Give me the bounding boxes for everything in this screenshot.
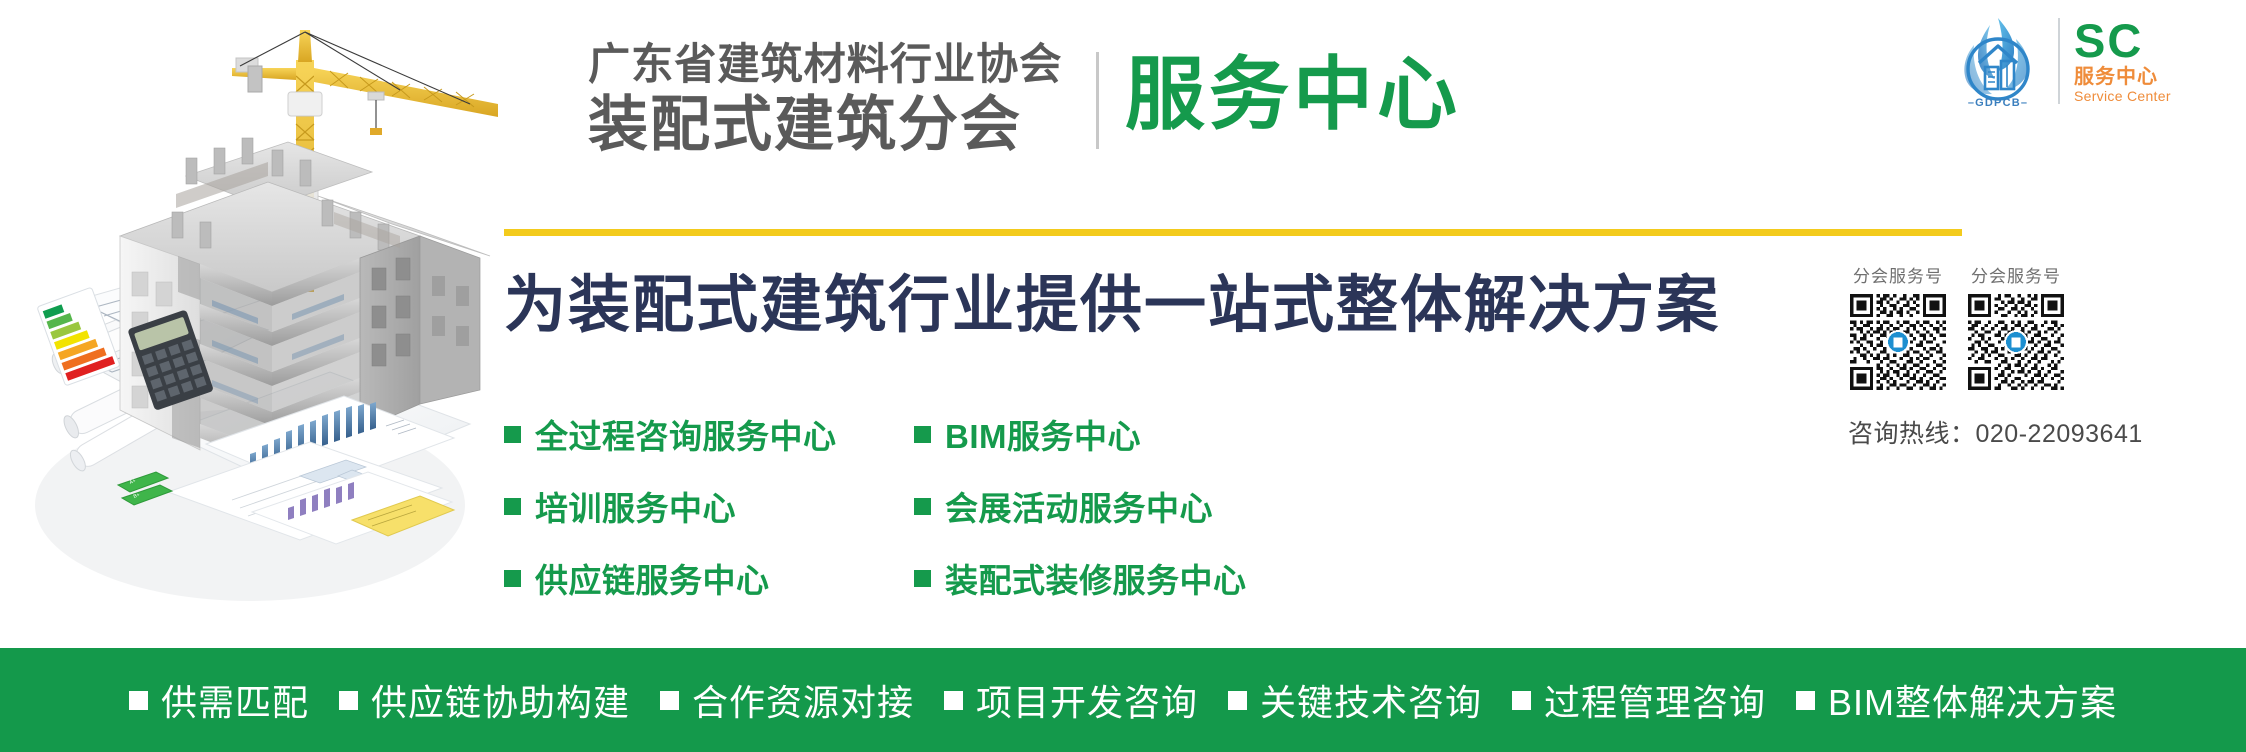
gdpcb-house-flame-logo-icon: –GDPCB– [1952, 13, 2044, 109]
service-item-label: 全过程咨询服务中心 [535, 410, 837, 458]
service-center-banner: HOME EXPENSES [0, 0, 2246, 752]
qr-cell: 分会服务号 [1968, 262, 2064, 390]
construction-building-render-image: HOME EXPENSES [0, 0, 500, 648]
logo-sc-abbrev: SC [2074, 19, 2143, 64]
qr-and-hotline-block: 分会服务号 [1838, 262, 2228, 450]
association-branch-line2: 装配式建筑分会 [588, 95, 1022, 155]
service-center-heading: 服务中心 [1125, 44, 1461, 146]
logo-text-block: SC 服务中心 Service Center [2074, 19, 2171, 103]
footer-item[interactable]: 过程管理咨询 [1512, 674, 1766, 726]
logo-mark-caption: –GDPCB– [1968, 97, 2028, 109]
qr-caption: 分会服务号 [1853, 262, 1943, 287]
service-item-label: 会展活动服务中心 [945, 482, 1213, 530]
hotline-text: 咨询热线：020-22093641 [1838, 414, 2228, 450]
footer-item[interactable]: 关键技术咨询 [1228, 674, 1482, 726]
logo-lockup: –GDPCB– SC 服务中心 Service Center [1952, 12, 2171, 110]
footer-item-label: 关键技术咨询 [1260, 674, 1482, 726]
footer-item[interactable]: 合作资源对接 [660, 674, 914, 726]
qr-code-icon[interactable] [1850, 294, 1946, 390]
logo-divider-icon [2058, 18, 2060, 104]
green-square-bullet-icon [914, 426, 931, 443]
green-square-bullet-icon [504, 498, 521, 515]
association-name-line1: 广东省建筑材料行业协会 [588, 44, 1062, 87]
service-item[interactable]: 培训服务中心 [504, 482, 914, 530]
green-square-bullet-icon [504, 570, 521, 587]
footer-item[interactable]: 供需匹配 [129, 674, 309, 726]
logo-sc-chinese: 服务中心 [2074, 67, 2158, 87]
footer-item-label: 过程管理咨询 [1544, 674, 1766, 726]
page-tagline: 为装配式建筑行业提供一站式整体解决方案 [504, 254, 1720, 344]
qr-caption: 分会服务号 [1971, 262, 2061, 287]
footer-item-label: 供应链协助构建 [371, 674, 630, 726]
service-item[interactable]: 会展活动服务中心 [914, 482, 1247, 530]
service-item-label: 供应链服务中心 [535, 554, 770, 602]
footer-item[interactable]: 项目开发咨询 [944, 674, 1198, 726]
footer-item[interactable]: 供应链协助构建 [339, 674, 630, 726]
white-square-bullet-icon [944, 691, 963, 710]
white-square-bullet-icon [660, 691, 679, 710]
service-item[interactable]: 供应链服务中心 [504, 554, 914, 602]
footer-item-label: 合作资源对接 [692, 674, 914, 726]
white-square-bullet-icon [1228, 691, 1247, 710]
white-square-bullet-icon [1512, 691, 1531, 710]
white-square-bullet-icon [339, 691, 358, 710]
footer-item-label: BIM整体解决方案 [1828, 674, 2117, 726]
qr-row: 分会服务号 [1838, 262, 2228, 390]
white-square-bullet-icon [129, 691, 148, 710]
service-column-right: BIM服务中心 会展活动服务中心 装配式装修服务中心 [914, 410, 1247, 626]
service-item[interactable]: BIM服务中心 [914, 410, 1247, 458]
hero-illustration-svg: HOME EXPENSES [0, 0, 500, 648]
footer-item-label: 项目开发咨询 [976, 674, 1198, 726]
qr-code-icon[interactable] [1968, 294, 2064, 390]
service-item-label: 装配式装修服务中心 [945, 554, 1247, 602]
white-square-bullet-icon [1796, 691, 1815, 710]
footer-item[interactable]: BIM整体解决方案 [1796, 674, 2117, 726]
gold-divider [504, 229, 1962, 236]
service-item-label: BIM服务中心 [945, 410, 1141, 458]
footer-capability-bar: 供需匹配 供应链协助构建 合作资源对接 项目开发咨询 关键技术咨询 过程管理咨询… [0, 648, 2246, 752]
association-name-block: 广东省建筑材料行业协会 装配式建筑分会 [588, 44, 1072, 155]
footer-item-label: 供需匹配 [161, 674, 309, 726]
qr-cell: 分会服务号 [1850, 262, 1946, 390]
banner-title-row: 广东省建筑材料行业协会 装配式建筑分会 服务中心 [588, 44, 1461, 155]
service-column-left: 全过程咨询服务中心 培训服务中心 供应链服务中心 [504, 410, 914, 626]
green-square-bullet-icon [504, 426, 521, 443]
green-square-bullet-icon [914, 498, 931, 515]
service-item-label: 培训服务中心 [535, 482, 736, 530]
green-square-bullet-icon [914, 570, 931, 587]
service-item[interactable]: 装配式装修服务中心 [914, 554, 1247, 602]
service-item[interactable]: 全过程咨询服务中心 [504, 410, 914, 458]
vertical-divider-icon [1096, 52, 1099, 149]
service-center-list: 全过程咨询服务中心 培训服务中心 供应链服务中心 BIM服务中心 会展活动服务中… [504, 410, 1247, 626]
logo-sc-english: Service Center [2074, 89, 2171, 103]
